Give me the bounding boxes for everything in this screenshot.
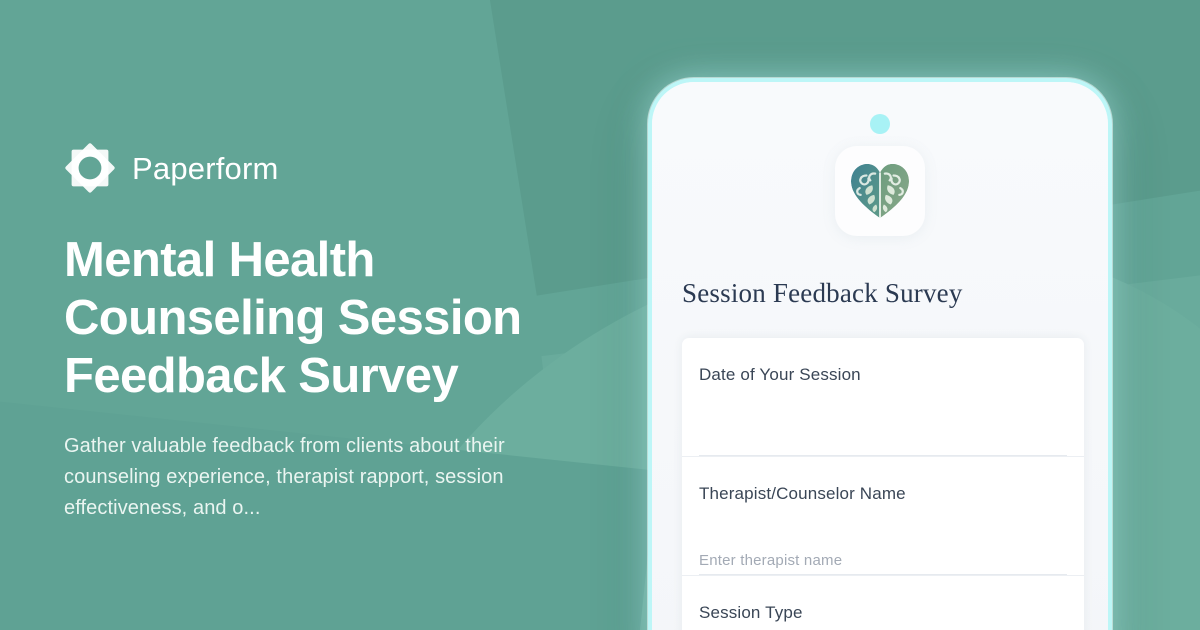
field-label: Date of Your Session	[699, 364, 1067, 386]
page-title: Mental Health Counseling Session Feedbac…	[64, 232, 584, 405]
form-field-session-type[interactable]: Session Type	[682, 576, 1084, 630]
hero-content: Paperform Mental Health Counseling Sessi…	[64, 142, 604, 523]
camera-dot-icon	[870, 114, 890, 134]
field-placeholder: Enter therapist name	[699, 552, 842, 569]
form-title: Session Feedback Survey	[682, 278, 1078, 309]
form-field-date-of-session[interactable]: Date of Your Session	[682, 338, 1084, 457]
form-field-therapist-name[interactable]: Therapist/Counselor Name Enter therapist…	[682, 457, 1084, 576]
phone-screen: Session Feedback Survey Date of Your Ses…	[652, 82, 1108, 630]
page-description: Gather valuable feedback from clients ab…	[64, 431, 569, 523]
phone-mockup: Session Feedback Survey Date of Your Ses…	[648, 78, 1112, 630]
field-label: Session Type	[699, 602, 1067, 624]
form-logo-badge	[835, 146, 925, 236]
therapist-name-input[interactable]: Enter therapist name	[699, 527, 1067, 575]
foliage-heart-icon	[849, 162, 911, 220]
field-label: Therapist/Counselor Name	[699, 483, 1067, 505]
brand-lockup: Paperform	[64, 142, 604, 194]
form-card: Date of Your Session Therapist/Counselor…	[682, 338, 1084, 630]
paperform-logo-icon	[64, 142, 116, 194]
brand-name: Paperform	[132, 153, 279, 184]
date-input[interactable]	[699, 408, 1067, 456]
og-share-card: Paperform Mental Health Counseling Sessi…	[0, 0, 1200, 630]
